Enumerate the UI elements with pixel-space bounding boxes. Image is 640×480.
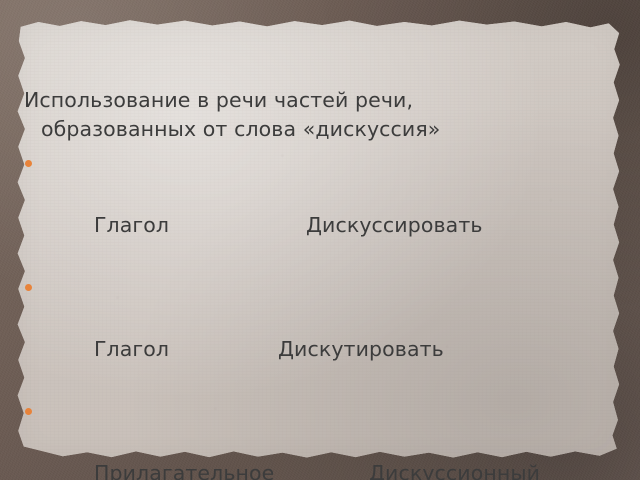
row-term: Глагол [94, 334, 278, 365]
parts-of-speech-list: ГлаголДискуссировать ГлаголДискутировать… [24, 148, 594, 480]
row-word: Дискутировать [278, 334, 444, 365]
slide-canvas: Использование в речи частей речи, образо… [0, 0, 640, 480]
row-word: Дискуссировать [306, 210, 483, 241]
bullet-dot-icon [25, 408, 32, 415]
list-item: ПрилагательноеДискуссионный [24, 396, 594, 480]
row-term: Глагол [94, 210, 306, 241]
list-item: ГлаголДискутировать [24, 272, 594, 396]
list-item: ГлаголДискуссировать [24, 148, 594, 272]
row-term: Прилагательное [94, 458, 369, 480]
bullet-dot-icon [25, 160, 32, 167]
bullet-dot-icon [25, 284, 32, 291]
page-title: Использование в речи частей речи, образо… [24, 86, 594, 144]
row-word: Дискуссионный [369, 458, 540, 480]
slide-content: Использование в речи частей речи, образо… [24, 86, 594, 480]
